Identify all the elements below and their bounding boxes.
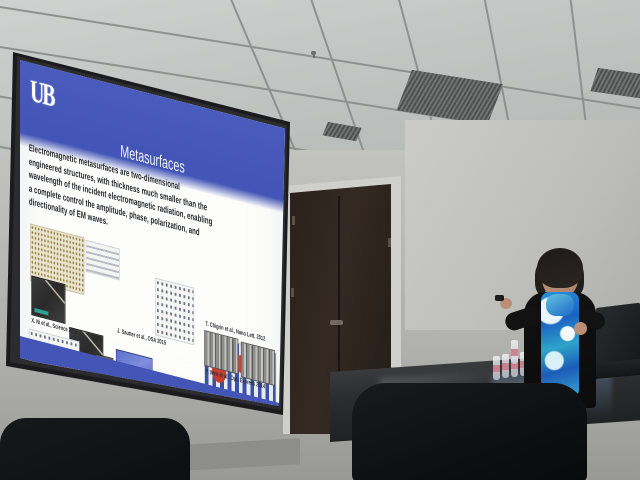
door-handle[interactable] — [330, 320, 343, 325]
photo-scene: UB Metasurfaces Electromagnetic metasurf… — [0, 0, 640, 480]
door-hinge-mid — [291, 288, 294, 297]
ub-logo: UB — [30, 71, 63, 119]
figure-resonator-grid — [155, 278, 194, 346]
office-chair-foreground[interactable] — [0, 418, 190, 480]
presenter-hair — [537, 248, 583, 288]
presenter-scarf-knot — [546, 294, 574, 316]
figure-sem-left — [31, 275, 65, 324]
ceiling-air-vent-right — [590, 68, 640, 98]
sprinkler-head — [311, 51, 316, 55]
presenter-right-hand — [574, 322, 587, 335]
presentation-clicker[interactable] — [495, 295, 504, 301]
office-chair[interactable] — [352, 383, 587, 480]
door-hinge-right — [388, 238, 391, 247]
figure-layer-stack — [86, 240, 120, 281]
door-hinge-top — [292, 216, 295, 225]
ceiling-air-vent — [397, 70, 503, 124]
